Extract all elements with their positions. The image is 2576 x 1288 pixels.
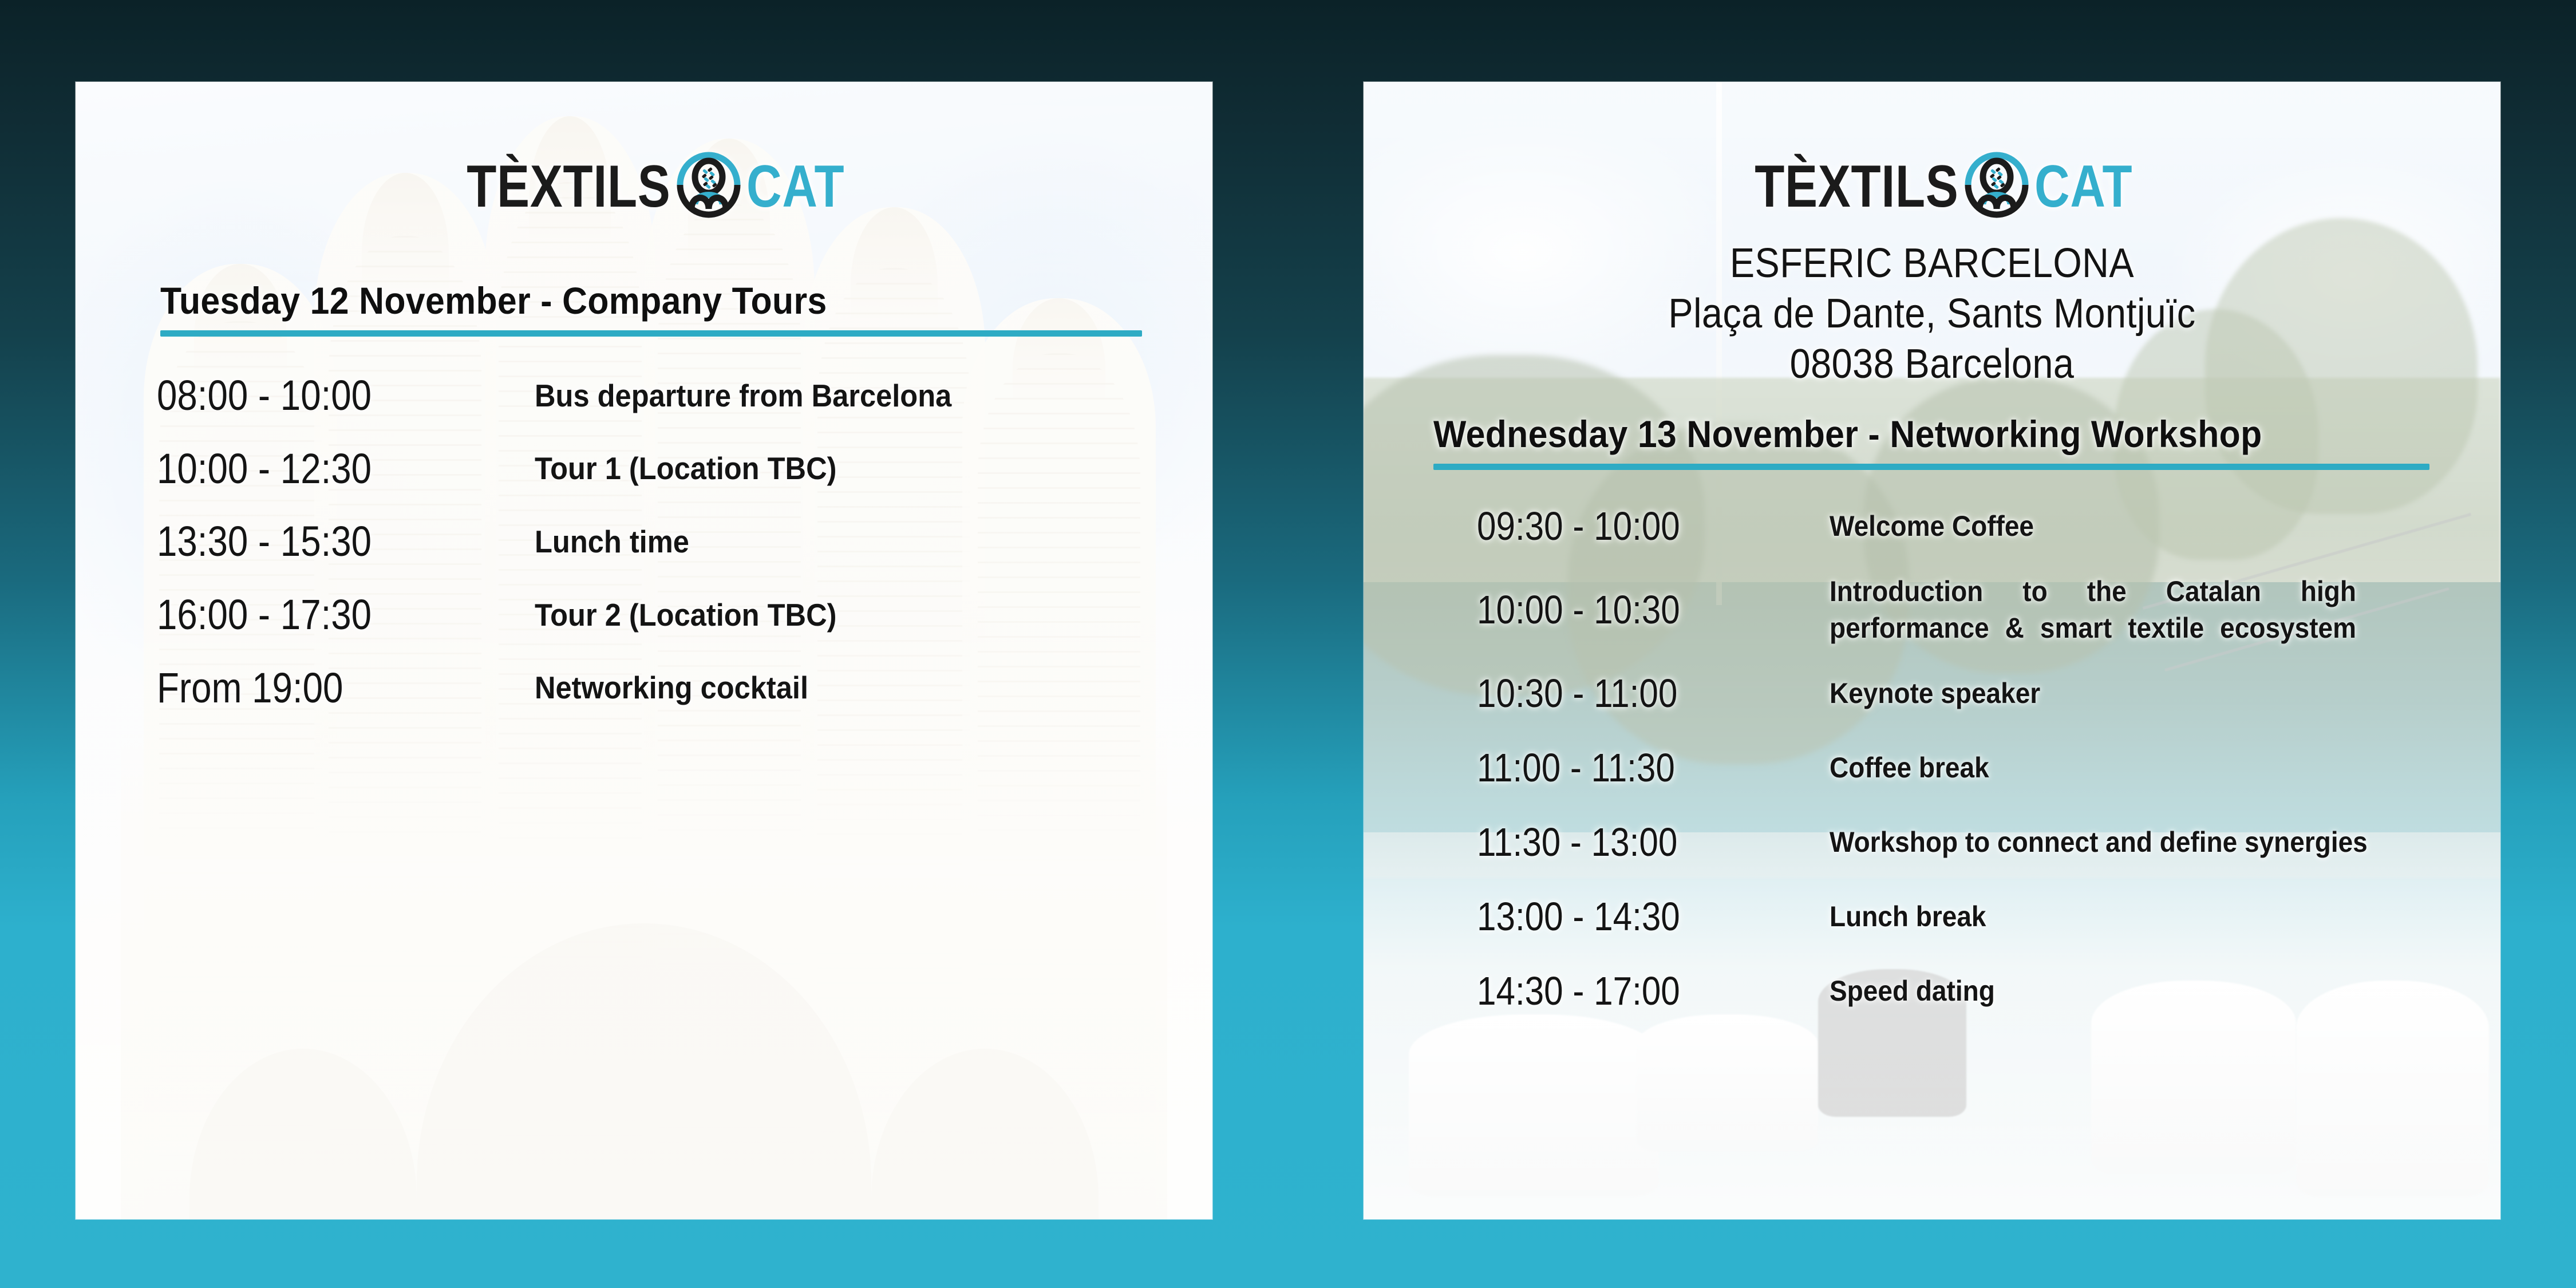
schedule-time: 10:00 - 10:30 <box>1477 589 1780 631</box>
venue-street: Plaça de Dante, Sants Montjuïc <box>1420 289 2443 339</box>
schedule-time: 10:00 - 12:30 <box>157 447 482 491</box>
venue-postcode-city: 08038 Barcelona <box>1420 339 2443 390</box>
brand-word-secondary: CAT <box>746 157 844 216</box>
schedule-time: 10:30 - 11:00 <box>1477 673 1780 715</box>
schedule-time: 14:30 - 17:00 <box>1477 970 1780 1013</box>
day-one-heading: Tuesday 12 November - Company Tours <box>160 279 1142 337</box>
textilscat-emblem-icon <box>674 149 743 224</box>
day-two-schedule-list: 09:30 - 10:00 Welcome Coffee 10:00 - 10:… <box>1477 499 2500 1018</box>
schedule-row: 13:30 - 15:30 Lunch time <box>157 519 1212 564</box>
schedule-desc: Networking cocktail <box>535 667 1051 708</box>
venue-address-block: ESFERIC BARCELONA Plaça de Dante, Sants … <box>1364 239 2500 389</box>
schedule-row: 09:30 - 10:00 Welcome Coffee <box>1477 499 2500 554</box>
brand-word-primary: TÈXTILS <box>1755 157 1958 216</box>
slide-canvas: TÈXTILS <box>0 0 2576 1288</box>
textilscat-emblem-icon <box>1962 149 2031 224</box>
schedule-row: 10:30 - 11:00 Keynote speaker <box>1477 666 2500 721</box>
schedule-desc: Lunch break <box>1830 898 2356 935</box>
day-one-underline <box>160 330 1142 337</box>
schedule-row: 10:00 - 12:30 Tour 1 (Location TBC) <box>157 447 1212 491</box>
brand-logo: TÈXTILS <box>1364 149 2500 224</box>
schedule-desc: Speed dating <box>1830 973 2356 1009</box>
schedule-row: 08:00 - 10:00 Bus departure from Barcelo… <box>157 373 1212 418</box>
brand-logo: TÈXTILS <box>76 149 1212 224</box>
schedule-desc: Welcome Coffee <box>1830 508 2356 544</box>
schedule-row: 11:00 - 11:30 Coffee break <box>1477 740 2500 795</box>
schedule-time: 11:30 - 13:00 <box>1477 821 1780 864</box>
schedule-time: 16:00 - 17:30 <box>157 592 482 637</box>
schedule-time: 11:00 - 11:30 <box>1477 747 1780 789</box>
schedule-row: 16:00 - 17:30 Tour 2 (Location TBC) <box>157 592 1212 637</box>
schedule-time: 09:30 - 10:00 <box>1477 505 1780 548</box>
schedule-desc: Bus departure from Barcelona <box>535 376 1051 416</box>
schedule-row: 14:30 - 17:00 Speed dating <box>1477 963 2500 1018</box>
venue-name: ESFERIC BARCELONA <box>1420 239 2443 289</box>
schedule-time: 08:00 - 10:00 <box>157 373 482 418</box>
day-two-panel: TÈXTILS <box>1364 82 2500 1219</box>
brand-word-primary: TÈXTILS <box>467 157 670 216</box>
day-two-underline <box>1433 464 2429 470</box>
schedule-time: 13:30 - 15:30 <box>157 519 482 564</box>
day-one-schedule-list: 08:00 - 10:00 Bus departure from Barcelo… <box>157 373 1212 710</box>
schedule-desc: Coffee break <box>1830 749 2356 786</box>
schedule-time: From 19:00 <box>157 666 482 710</box>
schedule-row: 10:00 - 10:30 Introduction to the Catala… <box>1477 573 2500 646</box>
schedule-desc: Workshop to connect and define synergies <box>1830 824 2447 860</box>
schedule-desc: Tour 1 (Location TBC) <box>535 448 1051 488</box>
schedule-time: 13:00 - 14:30 <box>1477 896 1780 938</box>
day-two-heading: Wednesday 13 November - Networking Works… <box>1433 412 2429 470</box>
schedule-row: From 19:00 Networking cocktail <box>157 666 1212 710</box>
schedule-row: 13:00 - 14:30 Lunch break <box>1477 889 2500 944</box>
schedule-row: 11:30 - 13:00 Workshop to connect and de… <box>1477 815 2500 870</box>
schedule-desc: Lunch time <box>535 521 1051 562</box>
day-one-title: Tuesday 12 November - Company Tours <box>160 279 1064 322</box>
day-one-panel: TÈXTILS <box>76 82 1212 1219</box>
schedule-desc: Keynote speaker <box>1830 675 2356 712</box>
schedule-desc: Tour 2 (Location TBC) <box>535 595 1051 635</box>
brand-word-secondary: CAT <box>2034 157 2132 216</box>
schedule-desc: Introduction to the Catalan high perform… <box>1830 573 2356 646</box>
day-two-title: Wednesday 13 November - Networking Works… <box>1433 412 2350 456</box>
